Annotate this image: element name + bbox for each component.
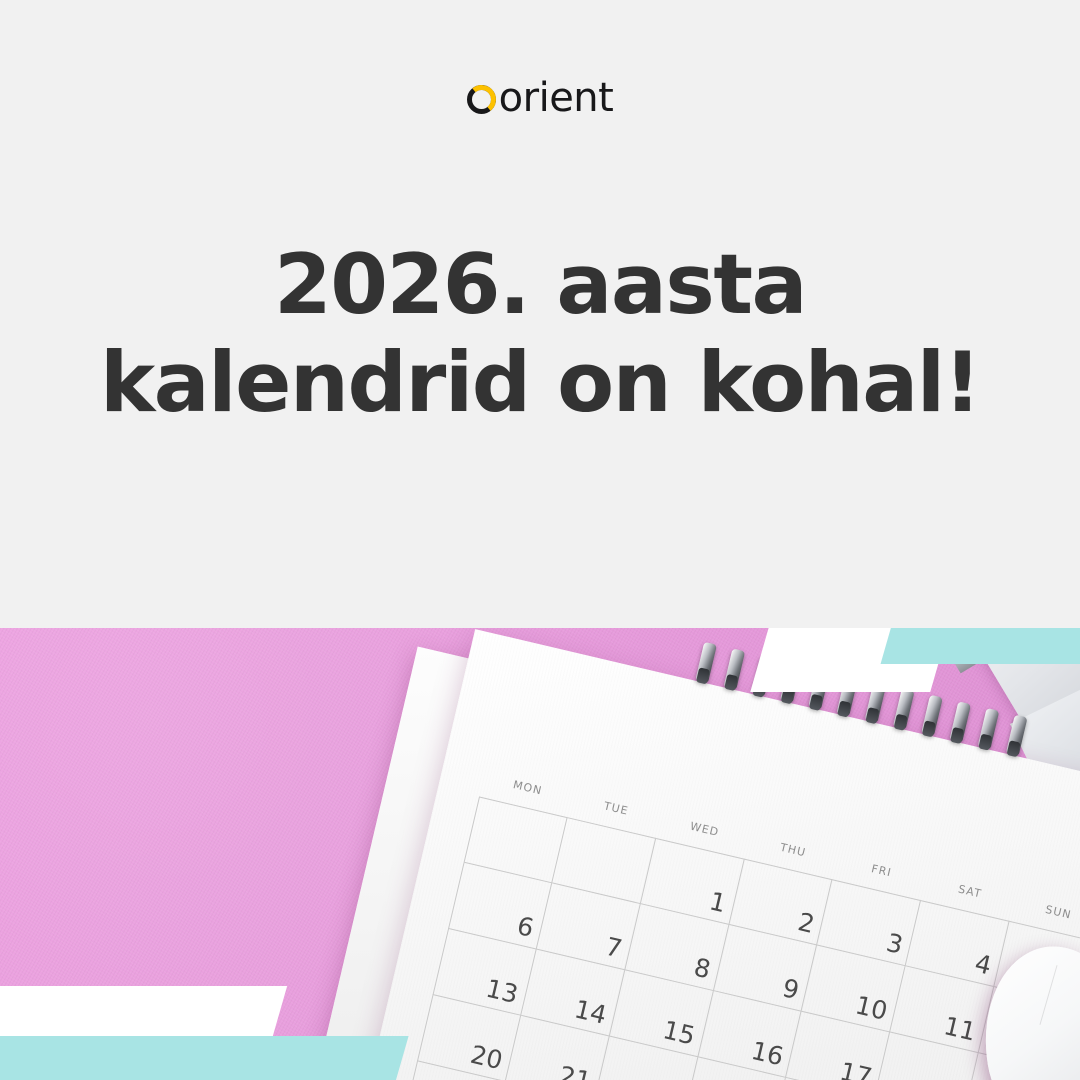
page-title: 2026. aasta kalendrid on kohal! — [0, 236, 1080, 432]
brand-logo[interactable]: orient — [0, 78, 1080, 118]
headline-line-1: 2026. aasta — [0, 236, 1080, 334]
calendar-day-number: 6 — [514, 911, 536, 943]
headline-line-2: kalendrid on kohal! — [0, 334, 1080, 432]
decor-parallelogram-teal-top — [881, 628, 1080, 664]
calendar-day-number: 14 — [572, 994, 610, 1029]
calendar-day-number: 8 — [691, 953, 713, 985]
calendar-day-number: 4 — [972, 949, 994, 981]
calendar-day-number: 16 — [749, 1036, 787, 1071]
calendar-day-number: 21 — [556, 1061, 594, 1080]
orient-o-mark-icon — [467, 85, 496, 114]
calendar-day-number: 9 — [780, 973, 802, 1005]
decor-parallelogram-white-bottom — [0, 986, 287, 1036]
calendar-day-number: 15 — [660, 1015, 698, 1050]
calendar-day-number: 17 — [837, 1057, 875, 1080]
calendar-day-number: 1 — [707, 886, 729, 918]
calendar-day-number: 13 — [483, 974, 521, 1009]
hero-photo: MONTUEWEDTHUFRISATSUN 123456789101112131… — [0, 628, 1080, 1080]
promo-poster: orient 2026. aasta kalendrid on kohal! — [0, 0, 1080, 1080]
calendar-day-number: 7 — [603, 932, 625, 964]
calendar-day-number: 3 — [884, 928, 906, 960]
calendar-day-number: 20 — [468, 1040, 506, 1075]
brand-name: orient — [499, 78, 614, 118]
calendar-day-number: 11 — [941, 1011, 979, 1046]
decor-parallelogram-teal-bottom — [0, 1036, 409, 1080]
header-section: orient 2026. aasta kalendrid on kohal! — [0, 0, 1080, 628]
calendar-day-number: 10 — [853, 990, 891, 1025]
calendar-day-number: 2 — [795, 907, 817, 939]
